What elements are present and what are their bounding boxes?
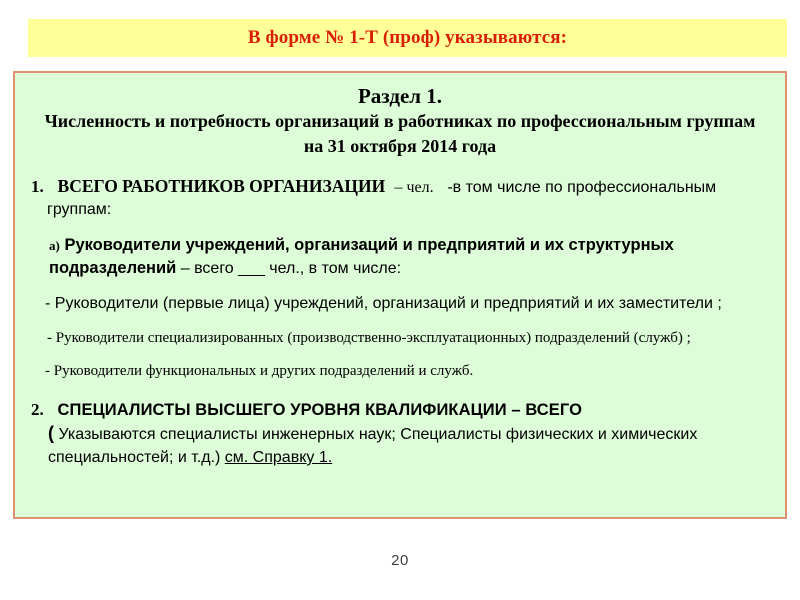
- sub-item-dash-2: - Руководители специализированных (произ…: [15, 328, 785, 349]
- item-1-unit-note: – чел.: [394, 179, 433, 196]
- item-2-reference-link[interactable]: см. Справку 1.: [225, 449, 332, 466]
- content-panel: Раздел 1. Численность и потребность орга…: [13, 71, 787, 519]
- title-banner: В форме № 1-Т (проф) указываются:: [28, 19, 787, 57]
- section-heading-line2: Численность и потребность организаций в …: [37, 109, 763, 159]
- item-1-number: 1.: [31, 177, 44, 196]
- item-2-sub-text: Указываются специалисты инженерных наук;…: [48, 426, 697, 466]
- sub-item-dash-1: - Руководители (первые лица) учреждений,…: [15, 293, 785, 315]
- item-2-sub-block: ( Указываются специалисты инженерных нау…: [31, 422, 759, 469]
- item-1-continuation: группам:: [31, 199, 759, 221]
- list-item-2: 2. СПЕЦИАЛИСТЫ ВЫСШЕГО УРОВНЯ КВАЛИФИКАЦ…: [15, 398, 785, 469]
- section-heading-line1: Раздел 1.: [37, 83, 763, 109]
- sub-item-dash-3: - Руководители функциональных и других п…: [15, 361, 785, 382]
- list-item-a: а) Руководители учреждений, организаций …: [15, 234, 785, 280]
- item-2-caps-label: СПЕЦИАЛИСТЫ ВЫСШЕГО УРОВНЯ КВАЛИФИКАЦИИ …: [58, 401, 583, 419]
- banner-title-text: В форме № 1-Т (проф) указываются:: [248, 27, 567, 49]
- item-2-number: 2.: [31, 400, 44, 419]
- item-a-marker: а): [49, 238, 60, 253]
- list-item-1: 1. ВСЕГО РАБОТНИКОВ ОРГАНИЗАЦИИ – чел. -…: [15, 175, 785, 221]
- item-1-rest-text: -в том числе по профессиональным: [447, 179, 716, 196]
- item-a-tail-text: – всего ___ чел., в том числе:: [176, 260, 401, 277]
- section-heading: Раздел 1. Численность и потребность орга…: [15, 73, 785, 159]
- item-1-caps-label: ВСЕГО РАБОТНИКОВ ОРГАНИЗАЦИИ: [58, 176, 386, 196]
- page-number: 20: [0, 552, 800, 569]
